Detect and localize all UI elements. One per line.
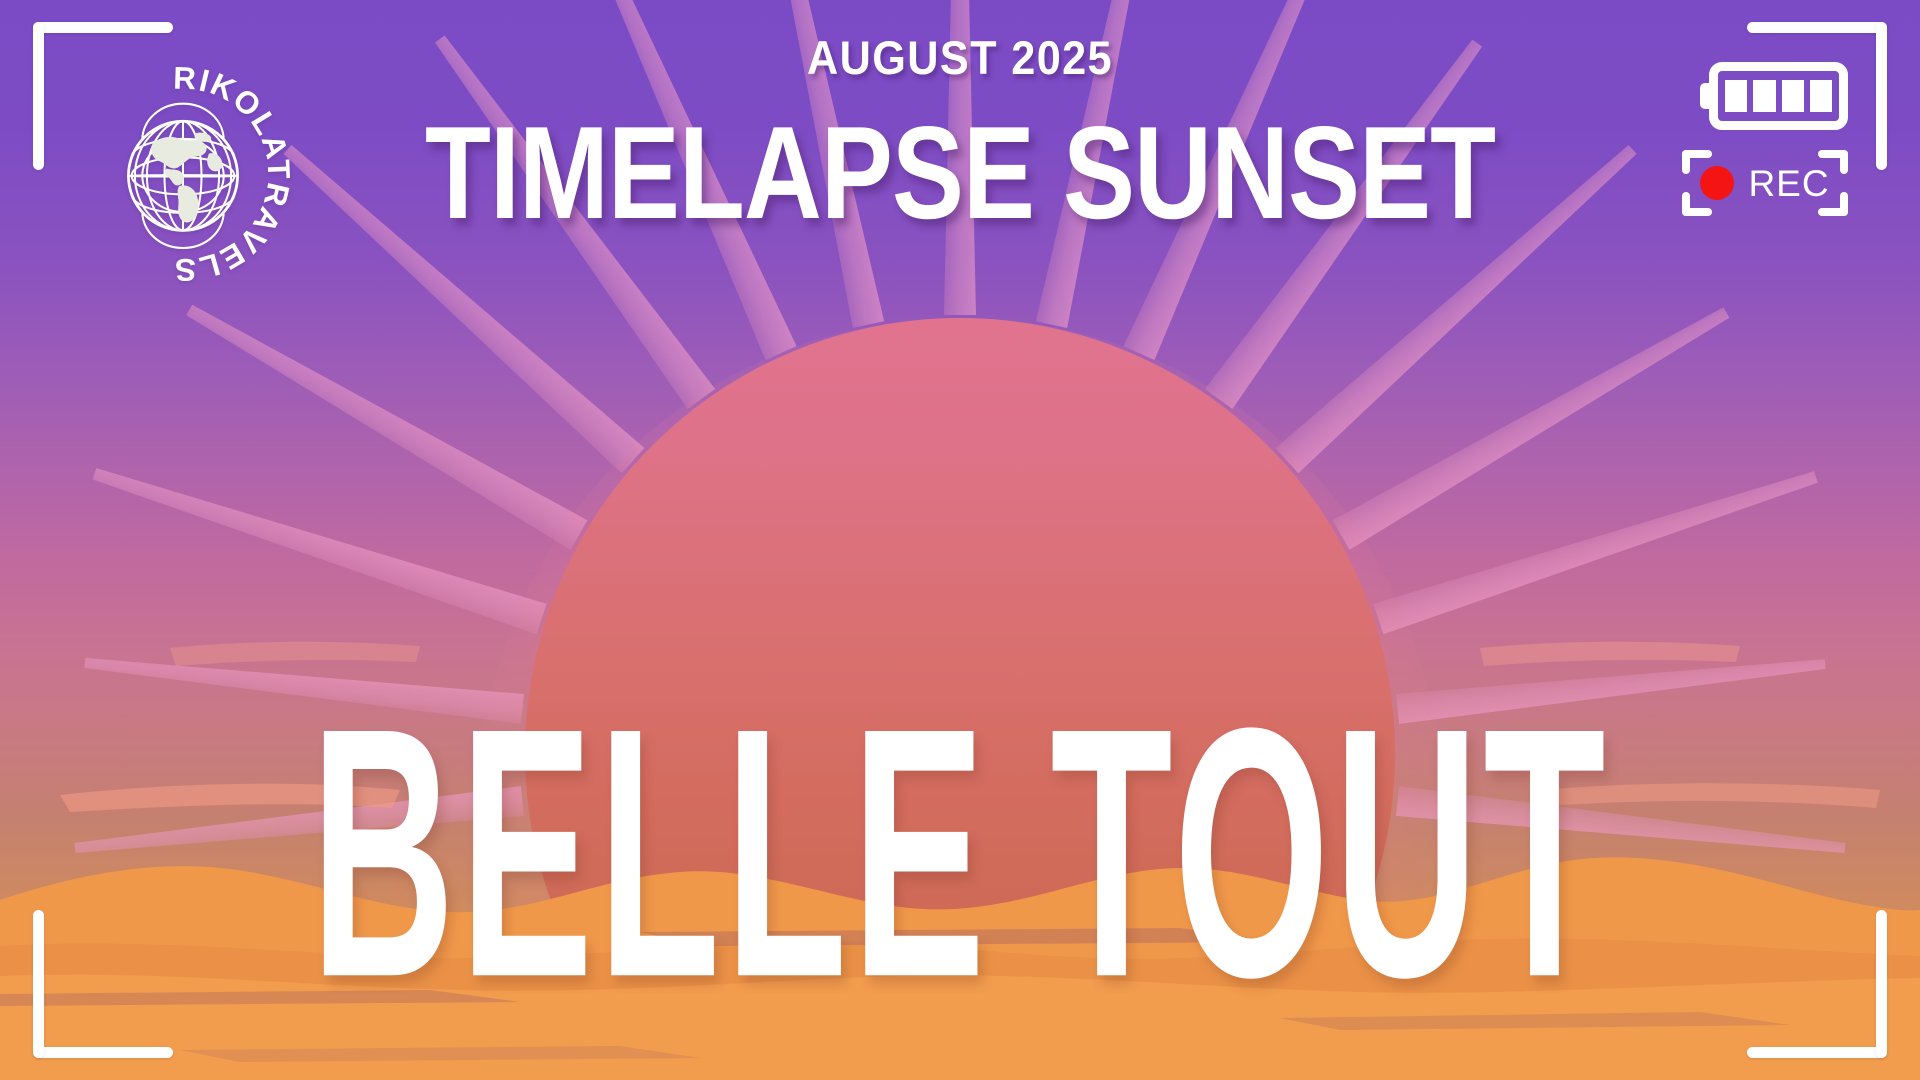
globe-icon: RIKOLATRAVELS [72, 58, 294, 290]
bracket-stroke-vertical [33, 910, 44, 1058]
bracket-stroke-vertical [1876, 22, 1887, 170]
bracket-stroke-horizontal [33, 1047, 173, 1058]
bracket-stroke-vertical [33, 22, 44, 170]
battery-cell [1782, 80, 1804, 112]
dune-silhouettes [0, 750, 1920, 1080]
rec-frame-corner-br [1818, 192, 1848, 216]
rec-frame-corner-bl [1682, 192, 1712, 216]
battery-body [1709, 62, 1848, 130]
brand-logo[interactable]: RIKOLATRAVELS [72, 58, 294, 290]
bracket-stroke-horizontal [33, 22, 173, 33]
corner-bracket-bottom-left [33, 910, 173, 1058]
corner-bracket-bottom-right [1747, 910, 1887, 1058]
bracket-stroke-vertical [1876, 910, 1887, 1058]
battery-cell [1753, 80, 1775, 112]
battery-cell [1810, 80, 1832, 112]
battery-icon [1700, 62, 1848, 130]
battery-cell [1725, 80, 1747, 112]
rec-frame-corner-tl [1682, 150, 1712, 174]
bracket-stroke-horizontal [1747, 22, 1887, 33]
recording-badge: REC [1682, 150, 1848, 216]
rec-frame-corner-tr [1818, 150, 1848, 174]
thumbnail-canvas: RIKOLATRAVELS AUGUST 2025 TIMELAPSE SUNS… [0, 0, 1920, 1080]
bracket-stroke-horizontal [1747, 1047, 1887, 1058]
status-indicators: REC [1682, 62, 1848, 216]
